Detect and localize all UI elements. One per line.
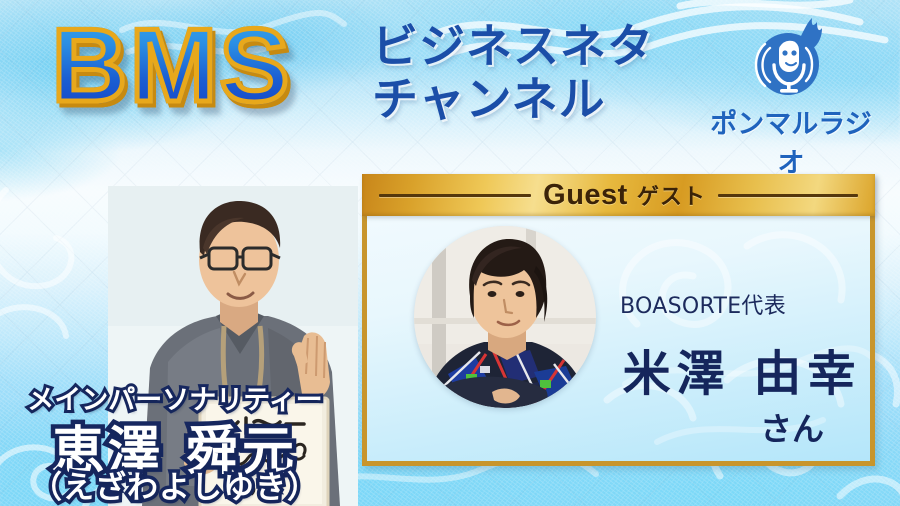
banner-label-group: Guest ゲスト <box>543 179 706 212</box>
guest-portrait-photo <box>414 226 596 408</box>
brand-logo: ポンマルラジオ <box>706 18 876 180</box>
channel-title: ビジネスネタ チャンネル <box>372 20 654 127</box>
brand-name-label: ポンマルラジオ <box>706 102 876 180</box>
guest-banner-label-en: Guest <box>543 179 628 212</box>
guest-panel: BOASORTE代表 米澤 由幸 さん <box>362 174 875 466</box>
microphone-mascot-icon <box>748 18 834 100</box>
guest-banner-label-jp: ゲスト <box>637 179 706 211</box>
guest-banner: Guest ゲスト <box>362 174 875 216</box>
guest-name-label: 米澤 由幸 <box>617 334 867 404</box>
bms-wordmark: BMS <box>52 14 292 118</box>
guest-portrait-illustration <box>414 226 596 408</box>
banner-rule-right <box>718 194 858 197</box>
guest-organization-label: BOASORTE代表 <box>620 288 786 320</box>
banner-rule-left <box>379 194 531 197</box>
video-thumbnail-canvas: BMS BMS ビジネスネタ チャンネル ポンマルラジオ <box>0 0 900 506</box>
guest-honorific-label: さん <box>697 404 887 450</box>
host-name-reading-label: （えざわよしゆき） <box>0 462 350 506</box>
